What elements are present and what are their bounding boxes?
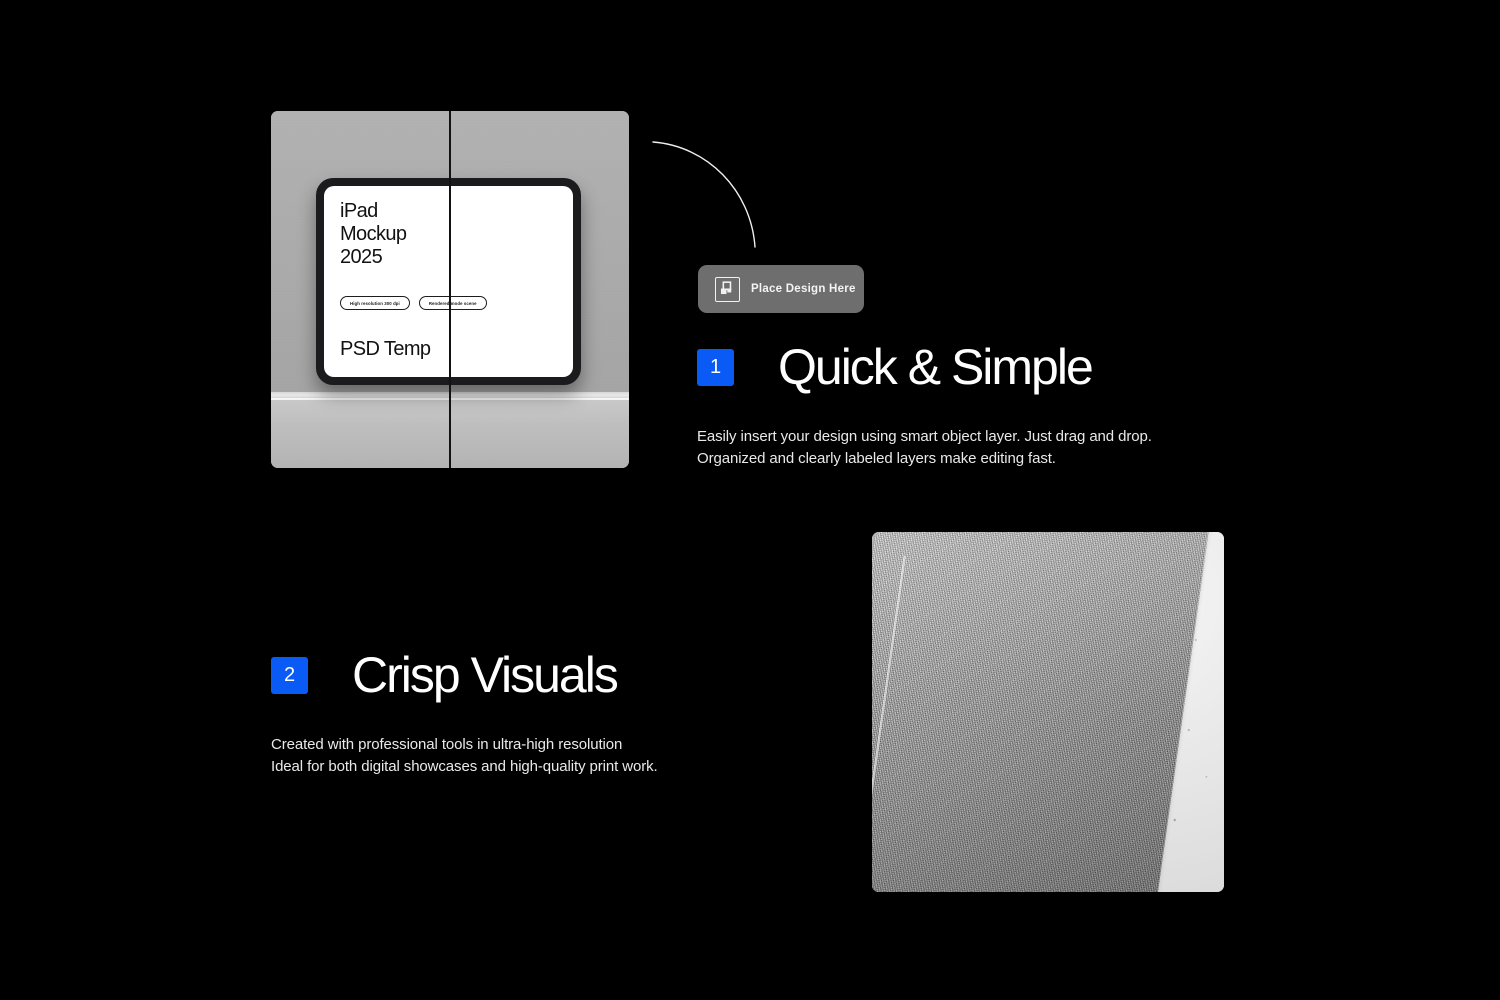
mockup-pill-render-mode: Rendered mode scene bbox=[419, 296, 487, 310]
feature-two-number-badge: 2 bbox=[271, 657, 308, 694]
feature-two-heading: 2 Crisp Visuals bbox=[271, 650, 658, 700]
feature-block-crisp-visuals: 2 Crisp Visuals Created with professiona… bbox=[271, 650, 658, 778]
fabric-case-closeup-image[interactable] bbox=[872, 532, 1224, 892]
feature-two-title: Crisp Visuals bbox=[352, 650, 617, 700]
mockup-screen-pills: High resolution 300 dpi Rendered mode sc… bbox=[340, 296, 487, 310]
woven-fabric-cover bbox=[872, 532, 1209, 892]
fabric-shading bbox=[872, 532, 1209, 892]
page-canvas: iPad Mockup 2025 High resolution 300 dpi… bbox=[0, 0, 1500, 1000]
feature-one-number-badge: 1 bbox=[697, 349, 734, 386]
feature-one-title: Quick & Simple bbox=[778, 342, 1092, 392]
mockup-screen-footer: PSD Temp bbox=[340, 338, 430, 361]
scene-vertical-divider bbox=[449, 111, 451, 468]
ipad-mockup-scene[interactable]: iPad Mockup 2025 High resolution 300 dpi… bbox=[271, 111, 629, 468]
place-design-here-badge[interactable]: Place Design Here bbox=[698, 265, 864, 313]
feature-one-heading: 1 Quick & Simple bbox=[697, 342, 1152, 392]
connector-curve-icon bbox=[645, 132, 770, 257]
mockup-screen-title: iPad Mockup 2025 bbox=[340, 200, 573, 269]
mockup-pill-resolution: High resolution 300 dpi bbox=[340, 296, 410, 310]
smart-object-icon bbox=[715, 277, 740, 302]
place-design-here-label: Place Design Here bbox=[751, 283, 856, 295]
feature-block-quick-simple: 1 Quick & Simple Easily insert your desi… bbox=[697, 342, 1152, 470]
feature-one-body: Easily insert your design using smart ob… bbox=[697, 426, 1152, 470]
feature-two-body: Created with professional tools in ultra… bbox=[271, 734, 658, 778]
